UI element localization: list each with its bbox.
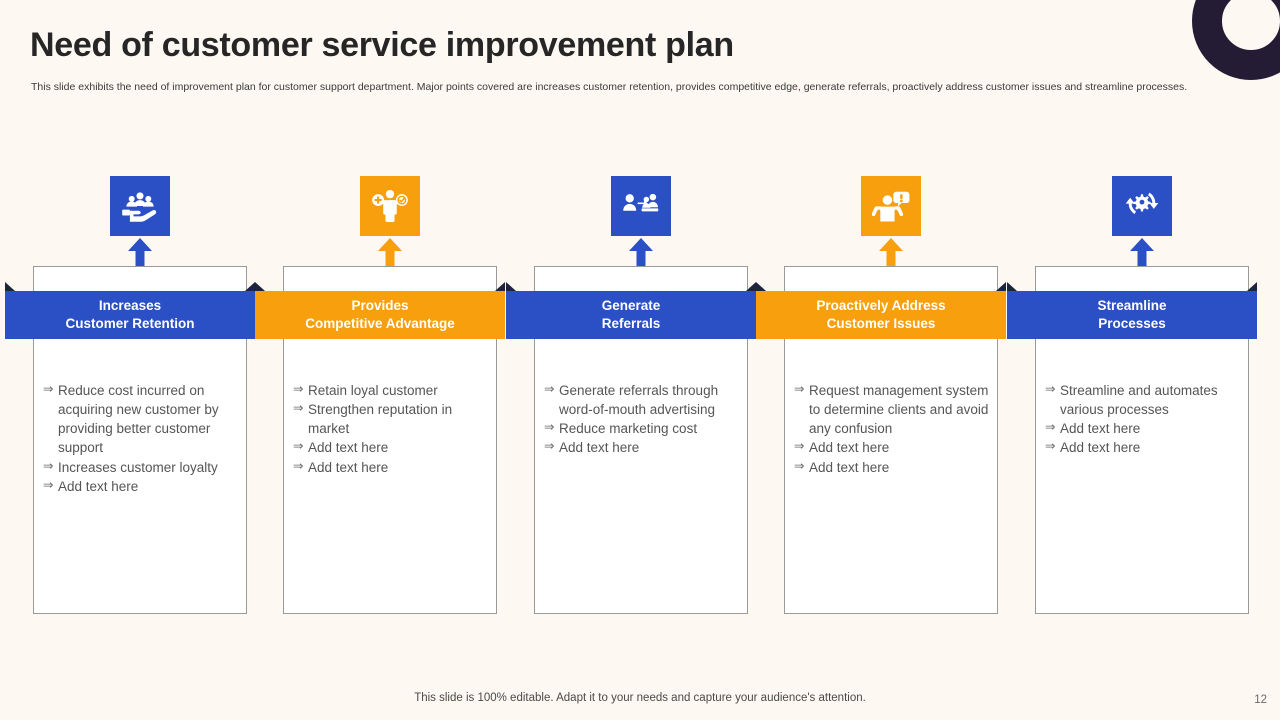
bullet-text: Generate referrals through word-of-mouth… [559,383,718,417]
bullet-list: ⇒Request management system to determine … [794,381,994,477]
card-title-ribbon[interactable]: IncreasesCustomer Retention [5,291,255,339]
card-title: GenerateReferrals [596,297,667,333]
person-balance-scale-icon[interactable] [360,176,420,236]
person-alert-speech-bubble-icon[interactable] [861,176,921,236]
bullet-item: ⇒Retain loyal customer [293,381,493,400]
bullet-item: ⇒Add text here [1045,419,1245,438]
bullet-arrow-icon: ⇒ [544,381,554,399]
connector-arrow-icon [128,238,152,266]
bullet-arrow-icon: ⇒ [544,419,554,437]
card-title-ribbon[interactable]: StreamlineProcesses [1007,291,1257,339]
connector-arrow-icon [879,238,903,266]
bullet-item: ⇒Add text here [293,438,493,457]
bullet-list: ⇒Generate referrals through word-of-mout… [544,381,744,458]
bullet-arrow-icon: ⇒ [794,438,804,456]
card-title-line1: Streamline [1097,298,1166,313]
ribbon-fold-left [756,282,766,291]
bullet-arrow-icon: ⇒ [293,458,303,476]
bullet-arrow-icon: ⇒ [544,438,554,456]
bullet-item: ⇒Add text here [794,438,994,457]
bullet-text: Add text here [58,479,138,494]
bullet-text: Strengthen reputation in market [308,402,452,436]
bullet-item: ⇒Request management system to determine … [794,381,994,438]
bullet-text: Add text here [809,440,889,455]
bullet-arrow-icon: ⇒ [43,477,53,495]
card-title: StreamlineProcesses [1091,297,1172,333]
bullet-text: Reduce cost incurred on acquiring new cu… [58,383,219,455]
card-title-line2: Customer Issues [827,316,936,331]
bullet-list: ⇒Streamline and automates various proces… [1045,381,1245,458]
bullet-text: Request management system to determine c… [809,383,988,436]
bullet-text: Streamline and automates various process… [1060,383,1218,417]
card-title-line2: Customer Retention [65,316,194,331]
bullet-arrow-icon: ⇒ [293,438,303,456]
bullet-text: Increases customer loyalty [58,460,218,475]
card-title-ribbon[interactable]: GenerateReferrals [506,291,756,339]
bullet-text: Add text here [308,440,388,455]
card-title-ribbon[interactable]: Proactively AddressCustomer Issues [756,291,1006,339]
ribbon-fold-right [1247,282,1257,291]
ribbon-fold-right [996,282,1006,291]
bullet-arrow-icon: ⇒ [1045,419,1055,437]
bullet-item: ⇒Add text here [794,458,994,477]
bullet-text: Reduce marketing cost [559,421,697,436]
slide-canvas: Need of customer service improvement pla… [0,0,1280,720]
bullet-item: ⇒Add text here [43,477,243,496]
connector-arrow-icon [378,238,402,266]
bullet-list: ⇒Retain loyal customer⇒Strengthen reputa… [293,381,493,477]
bullet-arrow-icon: ⇒ [1045,438,1055,456]
card-title-line1: Provides [351,298,408,313]
bullet-text: Add text here [1060,421,1140,436]
bullet-arrow-icon: ⇒ [794,458,804,476]
bullet-item: ⇒Reduce cost incurred on acquiring new c… [43,381,243,458]
card-title-line1: Generate [602,298,661,313]
ribbon-fold-left [5,282,15,291]
bullet-item: ⇒Reduce marketing cost [544,419,744,438]
connector-arrow-icon [629,238,653,266]
bullet-item: ⇒Add text here [1045,438,1245,457]
card-title-ribbon[interactable]: ProvidesCompetitive Advantage [255,291,505,339]
bullet-item: ⇒Add text here [293,458,493,477]
bullet-arrow-icon: ⇒ [293,400,303,418]
column-4: Proactively AddressCustomer Issues⇒Reque… [766,176,1016,616]
bullet-item: ⇒Generate referrals through word-of-mout… [544,381,744,419]
card-title: IncreasesCustomer Retention [59,297,200,333]
bullet-text: Add text here [308,460,388,475]
bullet-arrow-icon: ⇒ [293,381,303,399]
card-title-line2: Referrals [602,316,661,331]
column-2: ProvidesCompetitive Advantage⇒Retain loy… [265,176,515,616]
ribbon-fold-left [255,282,265,291]
ribbon-fold-left [506,282,516,291]
bullet-arrow-icon: ⇒ [1045,381,1055,399]
bullet-text: Add text here [1060,440,1140,455]
bullet-list: ⇒Reduce cost incurred on acquiring new c… [43,381,243,496]
page-title: Need of customer service improvement pla… [30,27,734,64]
column-5: StreamlineProcesses⇒Streamline and autom… [1017,176,1267,616]
bullet-arrow-icon: ⇒ [43,381,53,399]
column-3: GenerateReferrals⇒Generate referrals thr… [516,176,766,616]
bullet-item: ⇒Strengthen reputation in market [293,400,493,438]
column-1: IncreasesCustomer Retention⇒Reduce cost … [15,176,265,616]
bullet-text: Add text here [809,460,889,475]
person-to-group-arrow-icon[interactable] [611,176,671,236]
decorative-ring [1192,0,1280,80]
bullet-item: ⇒Increases customer loyalty [43,458,243,477]
bullet-arrow-icon: ⇒ [43,458,53,476]
card-title: Proactively AddressCustomer Issues [810,297,951,333]
hand-holding-people-icon[interactable] [110,176,170,236]
bullet-item: ⇒Add text here [544,438,744,457]
connector-arrow-icon [1130,238,1154,266]
bullet-text: Retain loyal customer [308,383,438,398]
card-title-line2: Competitive Advantage [305,316,455,331]
ribbon-fold-right [495,282,505,291]
footer-note: This slide is 100% editable. Adapt it to… [0,692,1280,704]
ribbon-fold-right [746,282,756,291]
page-number: 12 [1254,694,1267,706]
page-subtitle: This slide exhibits the need of improvem… [31,80,1221,94]
bullet-arrow-icon: ⇒ [794,381,804,399]
bullet-text: Add text here [559,440,639,455]
card-title-line1: Increases [99,298,161,313]
card-title-line2: Processes [1098,316,1166,331]
cards-container: IncreasesCustomer Retention⇒Reduce cost … [0,176,1280,616]
ribbon-fold-right [245,282,255,291]
card-title-line1: Proactively Address [816,298,945,313]
gear-cycle-arrows-icon[interactable] [1112,176,1172,236]
bullet-item: ⇒Streamline and automates various proces… [1045,381,1245,419]
ribbon-fold-left [1007,282,1017,291]
card-title: ProvidesCompetitive Advantage [299,297,461,333]
